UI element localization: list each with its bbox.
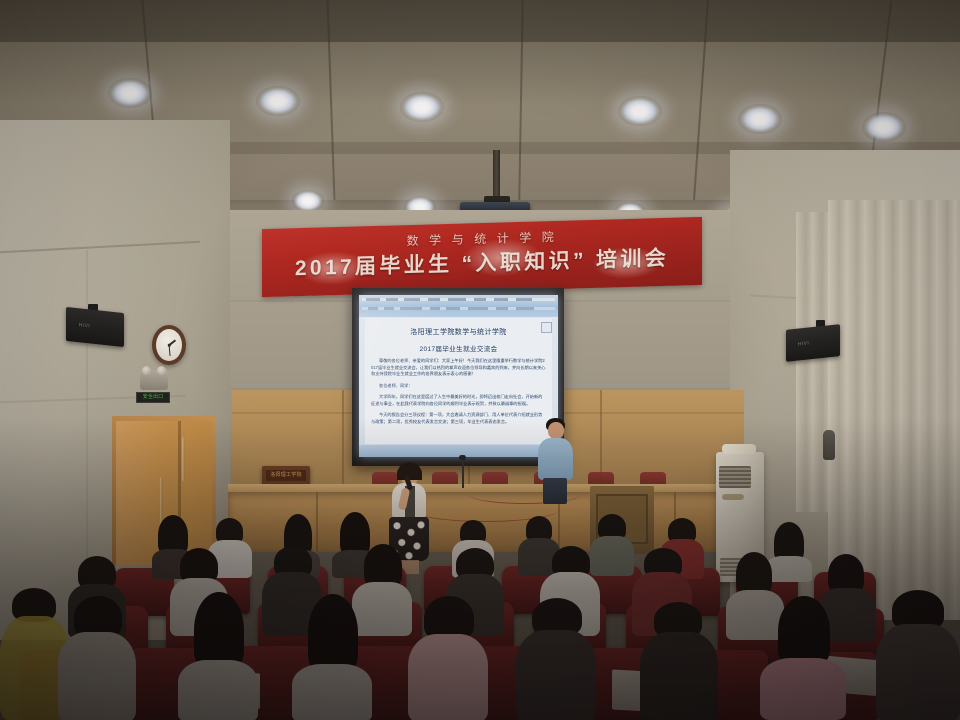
audience-member	[640, 602, 718, 720]
wall-speaker: HIVI	[66, 307, 124, 347]
microphone-stand[interactable]	[462, 458, 464, 488]
audience-member	[292, 594, 372, 720]
document-paragraph: 今天的报告会分三项议程：第一项，大会邀请人力资源部门、用人单位代表介绍就业形势与…	[371, 412, 546, 425]
torso-blue-shirt	[538, 438, 573, 480]
word-toolbar[interactable]	[359, 295, 558, 317]
document-paragraph: 大学四年，同学们在这里度过了人生中最美好的时光，即将迈出校门走向社会，开始新的征…	[371, 394, 546, 407]
document-corner-marker	[541, 322, 552, 333]
audience-member	[178, 592, 258, 720]
door-handle[interactable]	[182, 437, 185, 481]
fire-extinguisher	[823, 430, 835, 460]
audience-member	[58, 596, 136, 720]
document-subtitle: 2017届毕业生就业交流会	[371, 343, 546, 353]
document-paragraph: 尊敬的各位老师、亲爱的同学们：大家上午好！今天我们在这里隆重举行数学与统计学院2…	[371, 358, 546, 378]
ceiling-light	[108, 78, 152, 108]
audience-member	[408, 596, 488, 720]
wall-clock	[152, 325, 186, 365]
assistant-man	[534, 418, 576, 504]
red-banner: 数 学 与 统 计 学 院 2017届毕业生 “入职知识” 培训会	[262, 217, 702, 297]
trousers	[543, 478, 567, 504]
document-paragraph: 各位老师、同学：	[371, 383, 546, 390]
projection-screen[interactable]: 洛阳理工学院数学与统计学院 2017届毕业生就业交流会 尊敬的各位老师、亲爱的同…	[352, 288, 564, 466]
audience-member	[760, 596, 846, 720]
projected-word-document: 洛阳理工学院数学与统计学院 2017届毕业生就业交流会 尊敬的各位老师、亲爱的同…	[359, 295, 558, 457]
document-title: 洛阳理工学院数学与统计学院	[371, 327, 546, 337]
wall-speaker: HIVI	[786, 324, 840, 362]
ceiling-light	[256, 86, 300, 116]
audience-member	[876, 590, 960, 720]
document-page: 洛阳理工学院数学与统计学院 2017届毕业生就业交流会 尊敬的各位老师、亲爱的同…	[365, 318, 552, 444]
speaker-brand-label: HIVI	[79, 323, 90, 330]
ceiling-light	[292, 190, 324, 212]
ceiling-light	[618, 96, 662, 126]
ceiling-light	[738, 104, 782, 134]
microphone-head	[459, 455, 466, 460]
ceiling-light	[400, 92, 444, 122]
lecture-hall-photo: 数 学 与 统 计 学 院 2017届毕业生 “入职知识” 培训会	[0, 0, 960, 720]
exit-sign: 安全出口	[136, 392, 170, 403]
face	[548, 422, 564, 439]
emergency-light	[140, 370, 168, 390]
emblem-top-text: 洛阳理工学院	[266, 470, 306, 481]
exit-sign-text: 安全出口	[137, 393, 169, 402]
speaker-brand-label: HIVI	[798, 341, 809, 348]
audience-member	[516, 598, 596, 720]
ceiling-light	[862, 112, 906, 142]
